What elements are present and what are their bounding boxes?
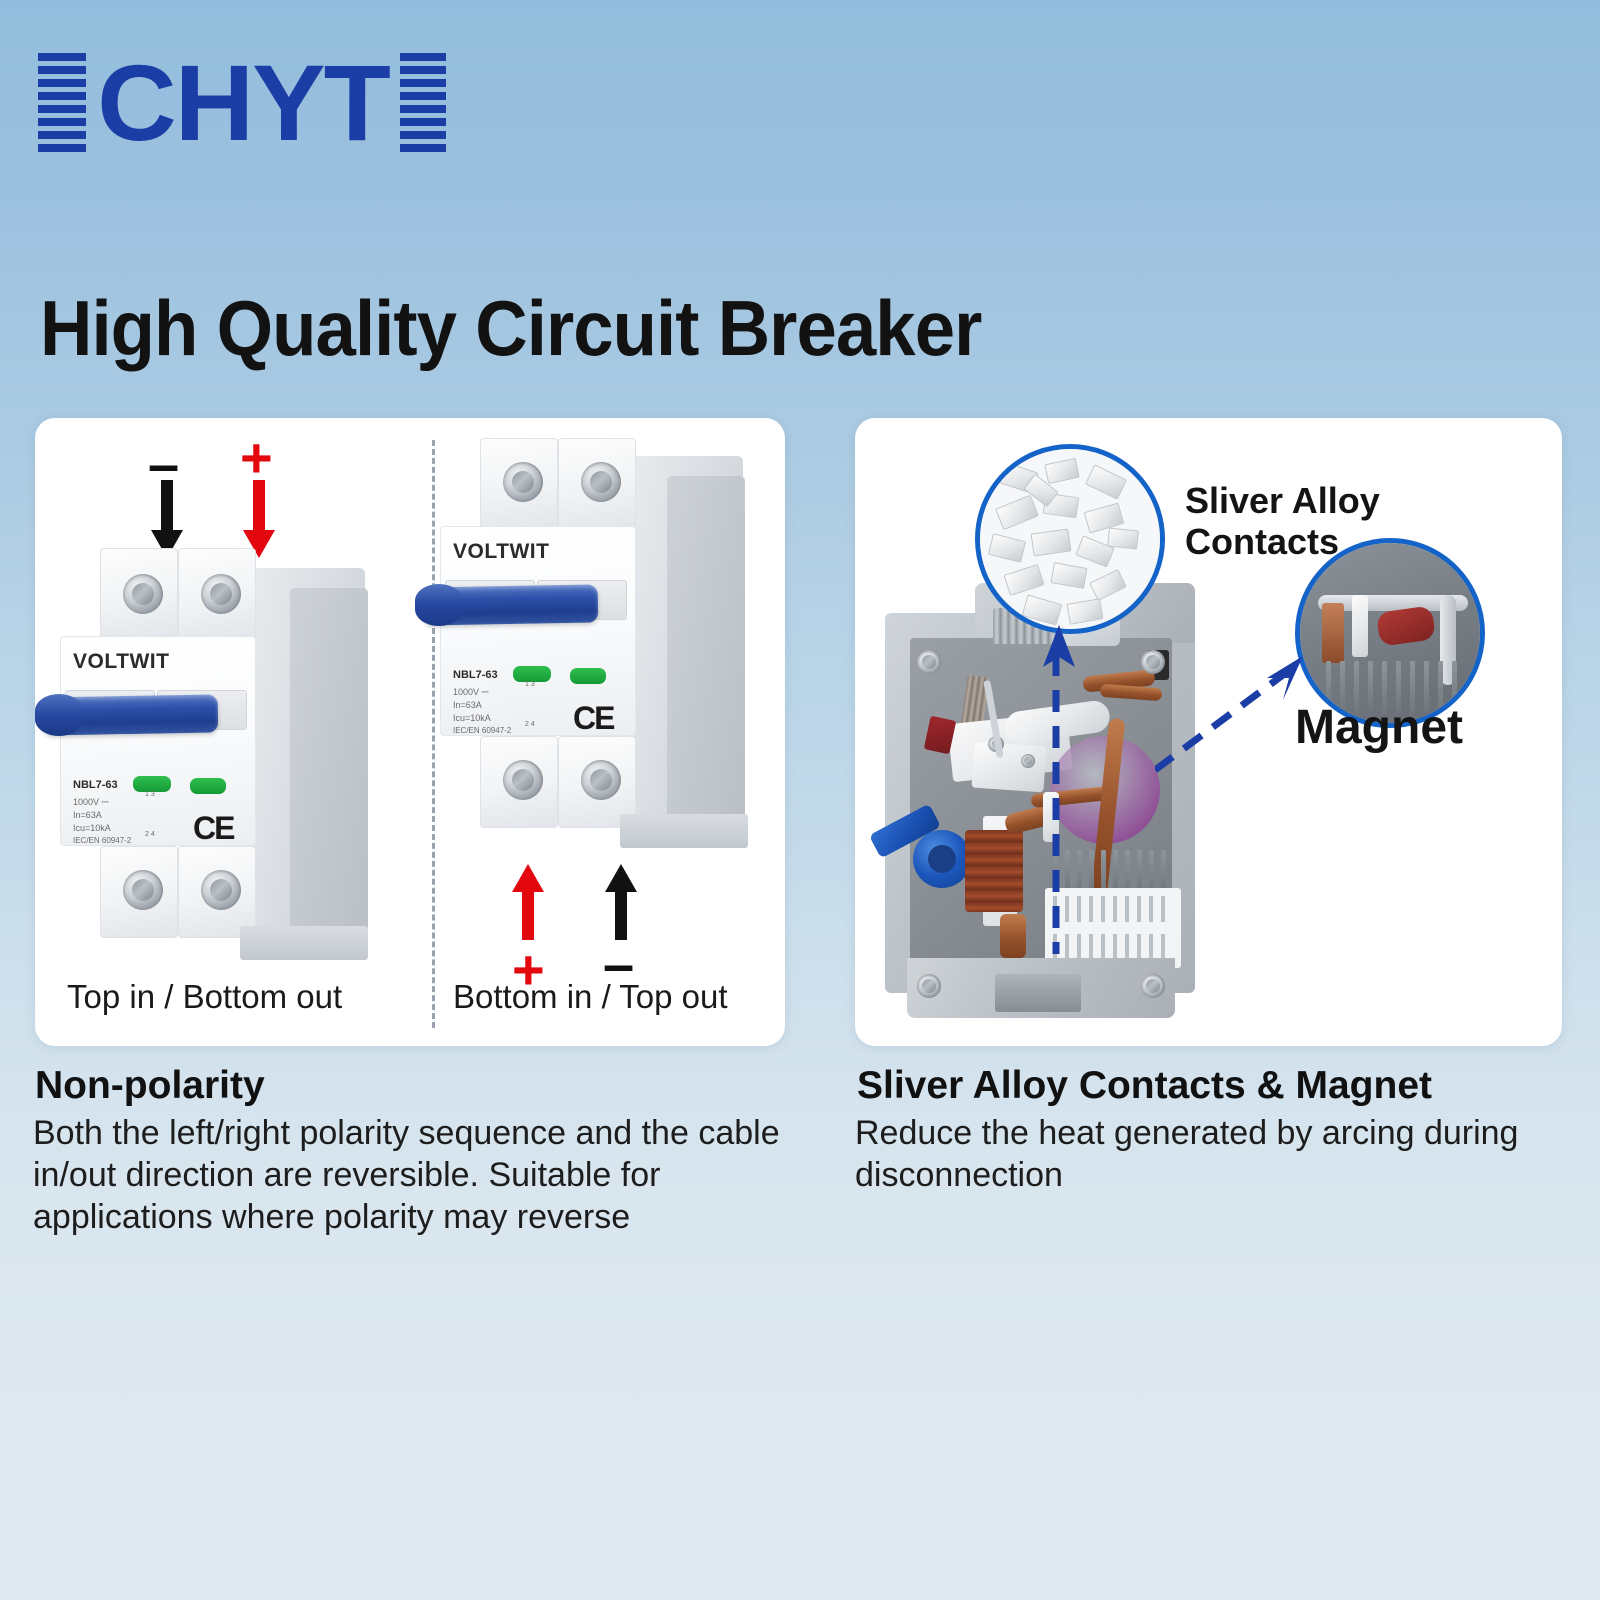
feature-heading-contacts-magnet: Sliver Alloy Contacts & Magnet xyxy=(857,1064,1432,1108)
breaker-spec-2-left: In=63A xyxy=(73,809,102,822)
breaker-brand-right: VOLTWIT xyxy=(453,540,549,564)
ce-mark-left: CE xyxy=(193,810,233,847)
breaker-terminal-num-top-right: 1 3 xyxy=(525,680,535,690)
breaker-terminal-num-top-left: 1 3 xyxy=(145,790,155,800)
breaker-spec-3-right: Icu=10kA xyxy=(453,712,491,725)
breaker-terminal-num-bot-left: 2 4 xyxy=(145,830,155,840)
logo-stripe-bars-right xyxy=(400,53,446,152)
panel-divider xyxy=(432,440,435,1028)
card-non-polarity: – + VOLTWIT NBL7-63 1000V ⎓ In=63A Icu=1… xyxy=(35,418,785,1046)
inset-silver-alloy-contacts xyxy=(975,444,1165,634)
breaker-spec-2-right: In=63A xyxy=(453,699,482,712)
breaker-spec-4-left: IEC/EN 60947-2 xyxy=(73,835,131,847)
toggle-handle-blue xyxy=(913,830,971,888)
breaker-model-left: NBL7-63 xyxy=(73,778,118,794)
caption-top-in-bottom-out: Top in / Bottom out xyxy=(67,978,342,1016)
label-magnet: Magnet xyxy=(1295,700,1463,755)
breaker-spec-3-left: Icu=10kA xyxy=(73,822,111,835)
breaker-spec-1-left: 1000V ⎓ xyxy=(73,796,109,809)
breaker-spec-4-right: IEC/EN 60947-2 xyxy=(453,725,511,737)
brand-logo: CHYT xyxy=(38,52,446,154)
breaker-brand-left: VOLTWIT xyxy=(73,650,169,674)
arrow-up-red-right xyxy=(508,862,548,942)
arrow-up-black-right xyxy=(601,862,641,942)
indicator-led-right-b xyxy=(570,668,606,684)
leader-line-contacts xyxy=(1048,654,1064,954)
feature-body-contacts-magnet: Reduce the heat generated by arcing duri… xyxy=(855,1112,1555,1196)
card-contacts-magnet: Sliver Alloy Contacts Magnet xyxy=(855,418,1562,1046)
caption-bottom-in-top-out: Bottom in / Top out xyxy=(453,978,728,1016)
feature-body-non-polarity: Both the left/right polarity sequence an… xyxy=(33,1112,793,1238)
page-title: High Quality Circuit Breaker xyxy=(40,283,981,374)
breaker-model-right: NBL7-63 xyxy=(453,668,498,684)
feature-heading-non-polarity: Non-polarity xyxy=(35,1064,265,1108)
indicator-led-left-b xyxy=(190,778,226,794)
logo-wordmark: CHYT xyxy=(97,52,389,154)
arc-chute-body xyxy=(1045,888,1181,968)
sign-plus-top-left: + xyxy=(240,430,273,486)
logo-stripe-bars-left xyxy=(38,53,86,152)
breaker-terminal-num-bot-right: 2 4 xyxy=(525,720,535,730)
breaker-spec-1-right: 1000V ⎓ xyxy=(453,686,489,699)
ce-mark-right: CE xyxy=(573,700,613,737)
